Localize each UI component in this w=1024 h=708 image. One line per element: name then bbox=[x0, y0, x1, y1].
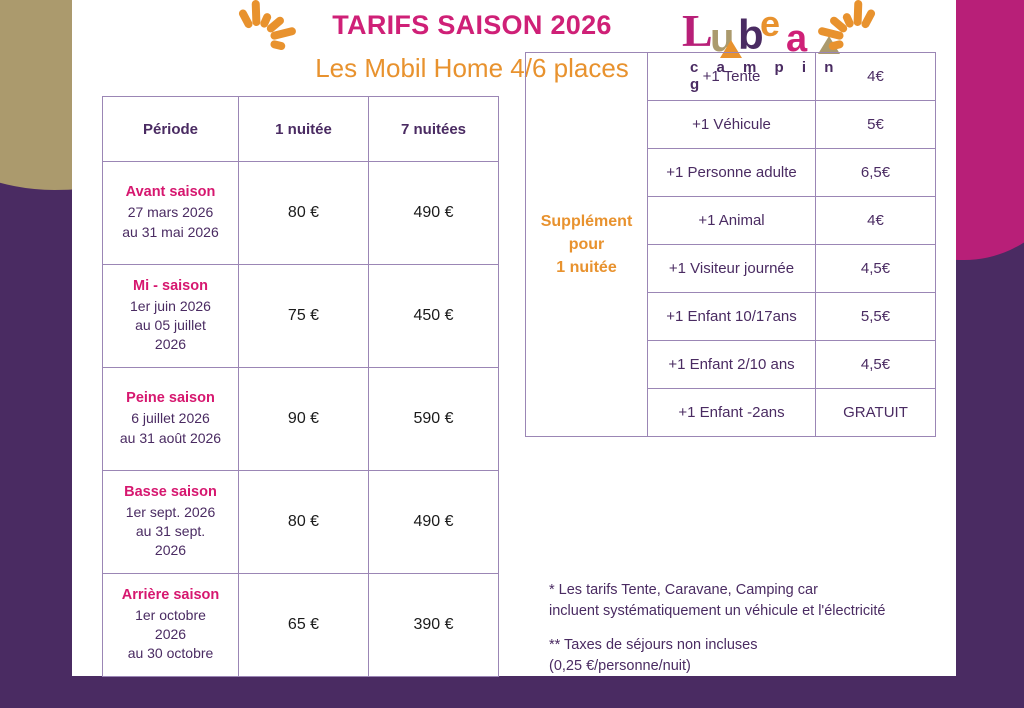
season-dates: 27 mars 2026au 31 mai 2026 bbox=[104, 203, 237, 242]
supplement-item: +1 Enfant -2ans bbox=[648, 389, 816, 437]
supplement-item: +1 Animal bbox=[648, 197, 816, 245]
supplement-price: 6,5€ bbox=[816, 149, 936, 197]
table-row: Supplémentpour1 nuitée+1 Tente4€ bbox=[526, 53, 936, 101]
sunburst-ray bbox=[853, 0, 862, 26]
page-title: TARIFS SAISON 2026 bbox=[272, 10, 672, 41]
season-period-cell: Avant saison27 mars 2026au 31 mai 2026 bbox=[103, 162, 239, 265]
price-seven-nights: 490 € bbox=[369, 471, 499, 574]
table-row: Avant saison27 mars 2026au 31 mai 202680… bbox=[103, 162, 499, 265]
price-one-night: 90 € bbox=[239, 368, 369, 471]
season-period-cell: Basse saison1er sept. 2026au 31 sept.202… bbox=[103, 471, 239, 574]
season-name: Basse saison bbox=[104, 484, 237, 500]
table-row: Basse saison1er sept. 2026au 31 sept.202… bbox=[103, 471, 499, 574]
season-name: Mi - saison bbox=[104, 278, 237, 294]
supplement-price: 4,5€ bbox=[816, 245, 936, 293]
price-one-night: 80 € bbox=[239, 471, 369, 574]
season-dates: 1er juin 2026au 05 juillet2026 bbox=[104, 297, 237, 355]
table-row: Peine saison6 juillet 2026au 31 août 202… bbox=[103, 368, 499, 471]
season-period-cell: Arrière saison1er octobre2026au 30 octob… bbox=[103, 574, 239, 677]
pricing-card: TARIFS SAISON 2026 Les Mobil Home 4/6 pl… bbox=[72, 0, 956, 676]
note-line: (0,25 €/personne/nuit) bbox=[549, 656, 949, 677]
logo-letter-e: e bbox=[760, 6, 780, 42]
column-header-seven-nights: 7 nuitées bbox=[369, 97, 499, 162]
supplement-item: +1 Enfant 10/17ans bbox=[648, 293, 816, 341]
price-one-night: 80 € bbox=[239, 162, 369, 265]
column-header-one-night: 1 nuitée bbox=[239, 97, 369, 162]
price-seven-nights: 450 € bbox=[369, 265, 499, 368]
supplement-item: +1 Personne adulte bbox=[648, 149, 816, 197]
season-period-cell: Peine saison6 juillet 2026au 31 août 202… bbox=[103, 368, 239, 471]
table-header-row: Période 1 nuitée 7 nuitées bbox=[103, 97, 499, 162]
season-dates: 1er octobre2026au 30 octobre bbox=[104, 606, 237, 664]
season-dates: 6 juillet 2026au 31 août 2026 bbox=[104, 409, 237, 448]
supplement-price: GRATUIT bbox=[816, 389, 936, 437]
supplement-label: Supplémentpour1 nuitée bbox=[526, 53, 648, 437]
price-seven-nights: 490 € bbox=[369, 162, 499, 265]
note-block: * Les tarifs Tente, Caravane, Camping ca… bbox=[549, 580, 949, 621]
season-pricing-table: Période 1 nuitée 7 nuitées Avant saison2… bbox=[102, 96, 499, 677]
table-row: Mi - saison1er juin 2026au 05 juillet202… bbox=[103, 265, 499, 368]
note-line: * Les tarifs Tente, Caravane, Camping ca… bbox=[549, 580, 949, 601]
logo-letter-l: L bbox=[682, 8, 713, 54]
column-header-period: Période bbox=[103, 97, 239, 162]
price-one-night: 75 € bbox=[239, 265, 369, 368]
price-seven-nights: 390 € bbox=[369, 574, 499, 677]
note-block: ** Taxes de séjours non incluses(0,25 €/… bbox=[549, 635, 949, 676]
supplement-item: +1 Enfant 2/10 ans bbox=[648, 341, 816, 389]
supplement-price: 5€ bbox=[816, 101, 936, 149]
supplement-item: +1 Visiteur journée bbox=[648, 245, 816, 293]
note-line: ** Taxes de séjours non incluses bbox=[549, 635, 949, 656]
supplement-item: +1 Véhicule bbox=[648, 101, 816, 149]
season-name: Avant saison bbox=[104, 184, 237, 200]
supplement-pricing-table: Supplémentpour1 nuitée+1 Tente4€+1 Véhic… bbox=[525, 52, 936, 437]
notes-section: * Les tarifs Tente, Caravane, Camping ca… bbox=[549, 580, 949, 690]
supplement-price: 4,5€ bbox=[816, 341, 936, 389]
supplement-item: +1 Tente bbox=[648, 53, 816, 101]
supplement-price: 5,5€ bbox=[816, 293, 936, 341]
supplement-price: 4€ bbox=[816, 197, 936, 245]
season-name: Arrière saison bbox=[104, 587, 237, 603]
table-row: Arrière saison1er octobre2026au 30 octob… bbox=[103, 574, 499, 677]
supplement-price: 4€ bbox=[816, 53, 936, 101]
season-dates: 1er sept. 2026au 31 sept.2026 bbox=[104, 503, 237, 561]
price-seven-nights: 590 € bbox=[369, 368, 499, 471]
note-line: incluent systématiquement un véhicule et… bbox=[549, 601, 949, 622]
price-one-night: 65 € bbox=[239, 574, 369, 677]
season-name: Peine saison bbox=[104, 390, 237, 406]
season-period-cell: Mi - saison1er juin 2026au 05 juillet202… bbox=[103, 265, 239, 368]
